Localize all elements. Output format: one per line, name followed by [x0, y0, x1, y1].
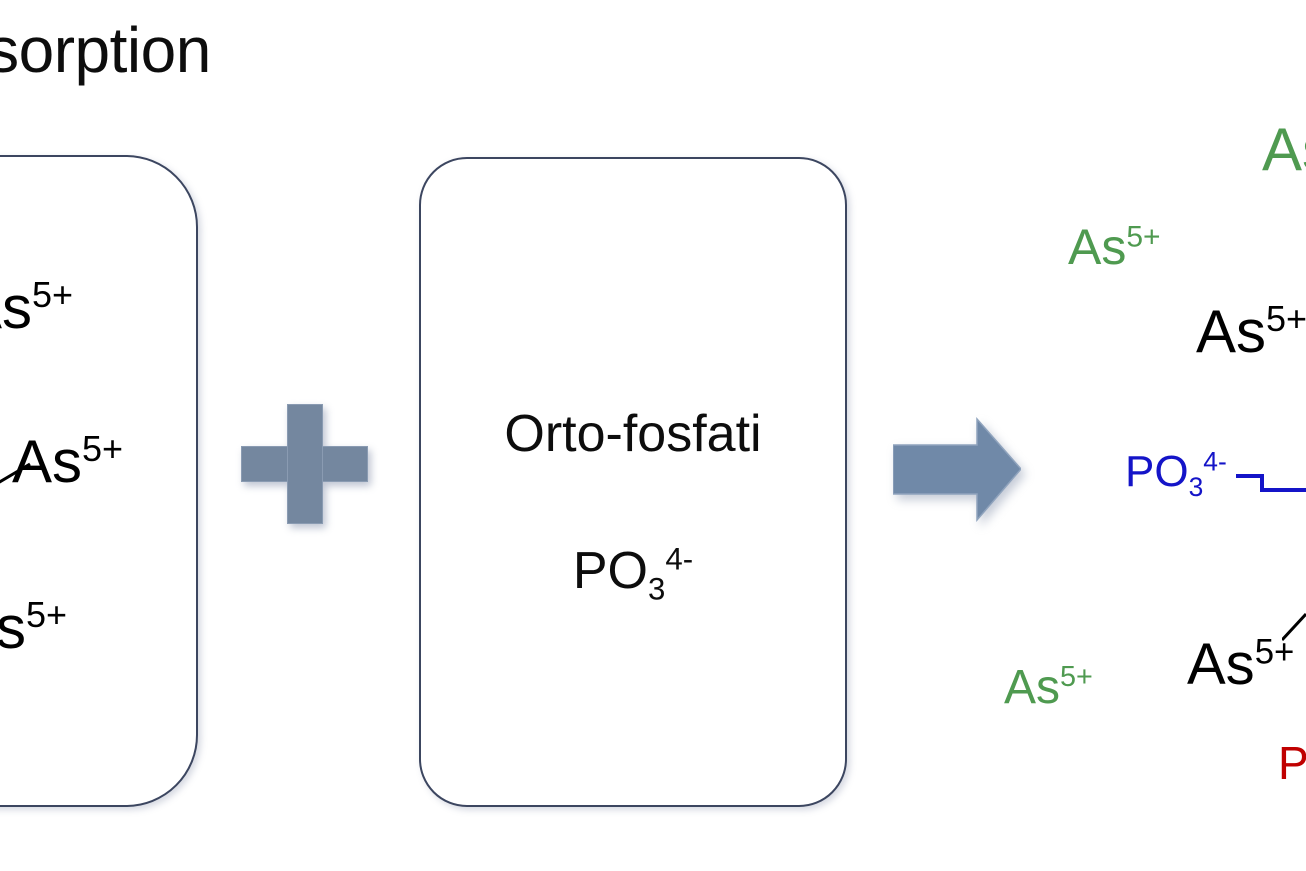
charge-sup: 5+ [1255, 633, 1295, 672]
plus-operator-icon [241, 404, 368, 524]
species-as5-product-green-top: As5+ [1262, 120, 1306, 180]
page-title: esorption [0, 18, 211, 82]
species-po3-product-blue: PO34- [1125, 450, 1227, 494]
species-as5-product-black-mid: As5+ [1196, 302, 1306, 362]
charge-sup: 5+ [1266, 298, 1306, 339]
charge-sup: 4- [1203, 446, 1226, 476]
orthophosphate-formula: PO34- [419, 545, 847, 597]
charge-sup: 4- [665, 542, 693, 577]
species-as5-product-green-bottom: As5+ [1004, 664, 1093, 712]
species-as5-product-black-bottom: As5+ [1187, 636, 1294, 694]
plus-vertical-bar [287, 404, 323, 524]
formula-sub: 3 [648, 571, 665, 606]
species-po3-product-red: PO34- [1278, 740, 1306, 786]
charge-sup: 5+ [82, 428, 123, 469]
charge-sup: 5+ [32, 274, 73, 315]
species-as5-product-green-mid: As5+ [1068, 222, 1161, 272]
species-as5-left-3: As5+ [0, 598, 67, 658]
charge-sup: 5+ [1126, 220, 1160, 253]
orthophosphate-box [419, 157, 847, 807]
diagram-canvas: esorption As5+ As5+ As5+ Orto-fosfati PO… [0, 0, 1306, 871]
charge-sup: 5+ [1060, 661, 1093, 693]
bond-zigzag-icon [1236, 458, 1306, 502]
charge-sup: 5+ [26, 594, 67, 635]
orthophosphate-label: Orto-fosfati [419, 404, 847, 464]
reaction-arrow-icon [893, 417, 1021, 522]
species-as5-left-2: As5+ [12, 432, 123, 492]
formula-sub: 3 [1189, 472, 1204, 502]
species-as5-left-1: As5+ [0, 278, 73, 338]
